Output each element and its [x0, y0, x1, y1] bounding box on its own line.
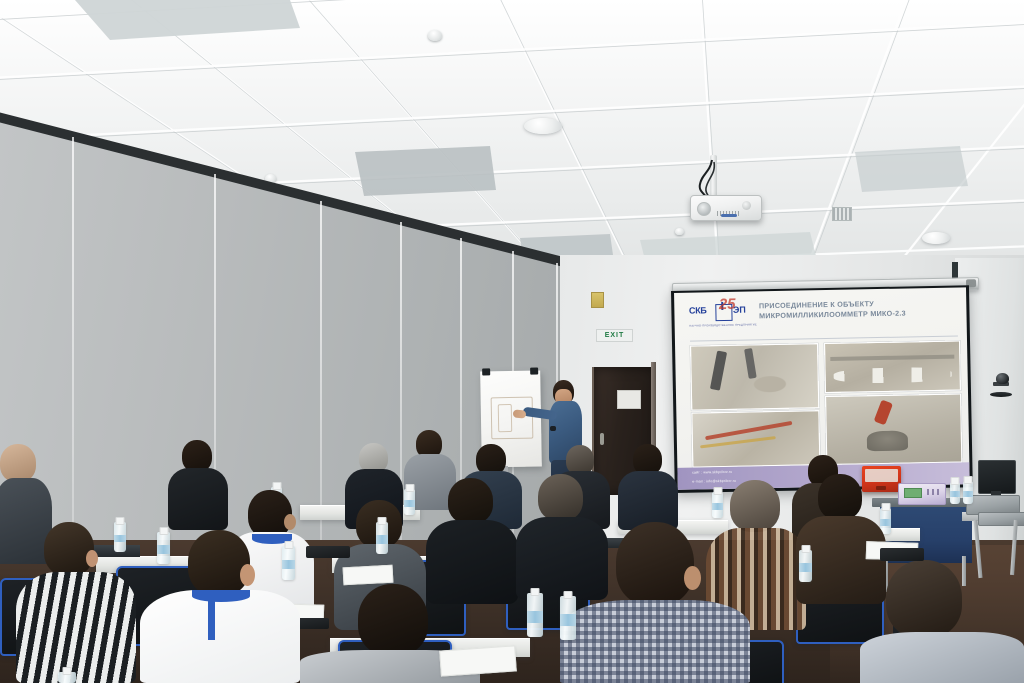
attendee-head: [616, 522, 694, 606]
exit-sign: EXIT: [596, 329, 633, 342]
bottle-cap: [63, 667, 72, 675]
shirt-collar: [192, 590, 250, 602]
bottle-cap: [964, 476, 973, 484]
bottle-cap: [951, 477, 960, 485]
partition-seam: [72, 137, 74, 557]
bottle-cap: [405, 484, 414, 492]
projector-lens: [697, 202, 711, 216]
water-bottle[interactable]: [799, 550, 812, 582]
camera-base: [990, 392, 1012, 397]
notepad-paper[interactable]: [343, 565, 394, 586]
attendee-torso-striped-shirt: [16, 572, 136, 683]
attendee: [140, 530, 300, 683]
photo-switchgear-connection: [690, 343, 819, 410]
bottle-cap: [116, 517, 125, 525]
bottle-cap: [272, 482, 281, 490]
attendee-torso: [860, 632, 1024, 683]
attendee-ear: [240, 564, 255, 586]
water-bottle[interactable]: [58, 672, 76, 683]
projector-knob: [742, 201, 751, 210]
water-bottle[interactable]: [963, 481, 973, 504]
instrument-knobs[interactable]: [927, 489, 941, 495]
flipchart-clip: [530, 368, 538, 375]
conference-room-photo: EXIT СКБ ЭП 25 НАУЧНО-ПРОИЗВОДСТВЕННОЕ П…: [0, 0, 1024, 683]
bottle-cap: [378, 517, 387, 525]
bottle-label: [376, 535, 388, 543]
attendee: [618, 444, 678, 530]
attendee-head: [538, 474, 583, 521]
smoke-detector: [675, 228, 684, 235]
logo-text-skb: СКБ: [689, 307, 707, 316]
slide-title: ПРИСОЕДИНЕНИЕ К ОБЪЕКТУ МИКРОМИЛЛИКИЛООМ…: [759, 297, 958, 322]
attendee-torso: [168, 468, 228, 530]
violet-measuring-instrument[interactable]: [898, 483, 946, 505]
slide-photo-grid: [690, 341, 961, 466]
bottle-label: [799, 563, 812, 571]
photo-busbar-insulators: [824, 341, 961, 394]
attendee-head: [188, 530, 250, 596]
door-handle[interactable]: [600, 433, 604, 445]
attendee-head: [0, 444, 36, 482]
logo-tagline: НАУЧНО-ПРОИЗВОДСТВЕННОЕ ПРЕДПРИЯТИЕ: [689, 324, 757, 328]
presenter-hand: [513, 409, 527, 418]
skb-ep-logo: СКБ ЭП 25 НАУЧНО-ПРОИЗВОДСТВЕННОЕ ПРЕДПР…: [689, 302, 747, 325]
bottle-label: [560, 614, 576, 625]
bottle-cap: [564, 591, 573, 599]
flipchart-clip: [482, 368, 490, 375]
attendee: [166, 440, 230, 530]
water-bottle[interactable]: [527, 593, 543, 637]
attendee-ear: [684, 566, 701, 590]
water-bottle[interactable]: [950, 482, 960, 504]
presenter-wristwatch: [550, 426, 556, 431]
attendee-head: [886, 560, 962, 638]
air-vent-grille: [832, 207, 852, 221]
water-bottle[interactable]: [560, 596, 576, 640]
bottle-label: [527, 611, 543, 622]
attendee-ear: [284, 514, 296, 530]
attendee-head: [358, 584, 428, 656]
attendee: [560, 522, 750, 683]
slide-header: СКБ ЭП 25 НАУЧНО-ПРОИЗВОДСТВЕННОЕ ПРЕДПР…: [689, 295, 958, 340]
attendee-head: [448, 478, 493, 524]
laptop[interactable]: [880, 548, 924, 561]
bottle-label: [963, 491, 973, 497]
bottle-cap: [801, 545, 810, 553]
attendee-torso-checked-shirt: [560, 600, 750, 683]
fire-alarm-panel: [591, 292, 604, 308]
computer-monitor[interactable]: [978, 460, 1016, 494]
bottle-label: [114, 535, 126, 543]
dome-ceiling-light: [922, 232, 950, 244]
attendee-head: [44, 522, 94, 576]
door-sign: [617, 390, 641, 409]
logo-anniversary-25: 25: [719, 297, 736, 312]
projector-led: [721, 214, 737, 217]
exit-sign-label: EXIT: [605, 332, 625, 339]
bottle-label: [950, 491, 960, 497]
attendee-ear: [86, 550, 98, 567]
slide-footer-line1: сайт : www.skbpribor.ru: [692, 470, 732, 476]
attendee: [860, 560, 1024, 683]
water-bottle[interactable]: [376, 522, 388, 554]
ceiling-projector: [690, 195, 762, 221]
instrument-display: [904, 488, 922, 498]
attendee-torso-white-shirt: [140, 590, 300, 683]
smoke-detector: [428, 30, 442, 41]
notepad-paper[interactable]: [439, 645, 517, 676]
attendee-head: [818, 474, 862, 520]
lanyard: [208, 600, 215, 640]
laptop[interactable]: [306, 546, 350, 558]
bottle-cap: [531, 588, 540, 596]
wall-mounted-ptz-camera: [996, 373, 1009, 384]
water-bottle[interactable]: [114, 522, 126, 552]
dome-ceiling-light: [524, 118, 562, 134]
